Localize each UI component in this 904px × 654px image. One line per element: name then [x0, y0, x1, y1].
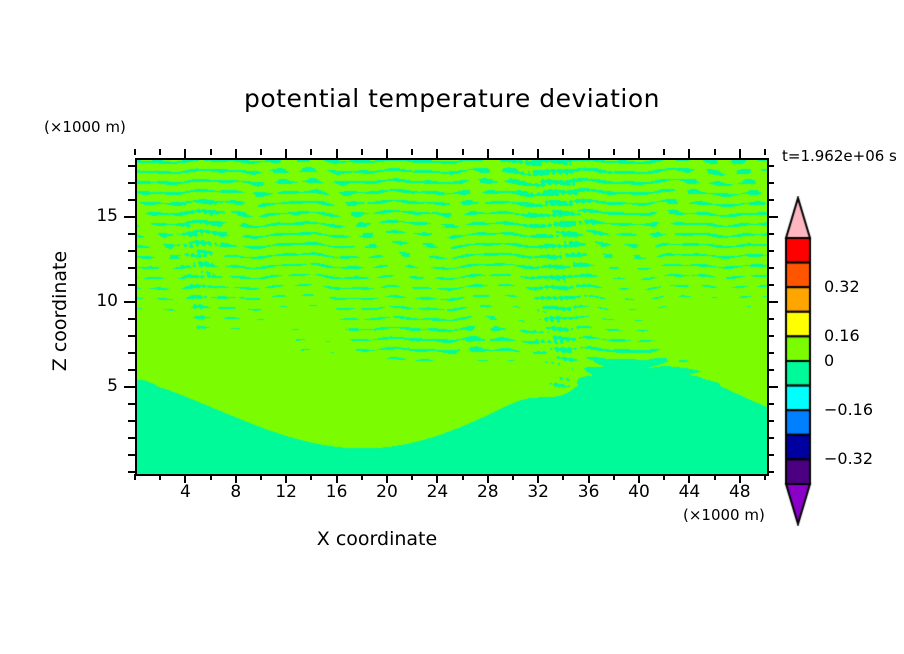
x-tick-top: [537, 149, 539, 158]
x-tick-top: [663, 149, 665, 155]
y-tick: [128, 182, 135, 184]
y-axis-title: Z coordinate: [49, 211, 71, 411]
x-axis-title: X coordinate: [0, 528, 904, 550]
x-tick: [411, 474, 413, 480]
x-tick-top: [184, 149, 186, 158]
y-tick-right: [767, 284, 774, 286]
x-tick-top: [436, 149, 438, 158]
x-tick: [310, 474, 312, 480]
x-axis-unit-label: (×1000 m): [683, 506, 765, 524]
colorbar: 0.320.160−0.16−0.32: [782, 196, 892, 526]
time-annotation: t=1.962e+06 s: [782, 147, 897, 165]
y-tick: [128, 267, 135, 269]
colorbar-label: 0: [824, 351, 834, 370]
colorbar-canvas: [782, 196, 816, 526]
y-tick: [128, 454, 135, 456]
y-tick-right: [767, 318, 774, 320]
y-tick-right: [767, 301, 778, 303]
x-tick: [134, 474, 136, 480]
x-tick-top: [386, 149, 388, 158]
y-tick: [128, 403, 135, 405]
x-tick: [159, 474, 161, 480]
y-tick: [128, 284, 135, 286]
y-tick-right: [767, 437, 774, 439]
y-tick: [128, 199, 135, 201]
x-tick-top: [134, 149, 136, 155]
x-tick-top: [613, 149, 615, 155]
y-tick: [128, 335, 135, 337]
y-tick: [128, 437, 135, 439]
y-tick: [128, 250, 135, 252]
y-tick-right: [767, 386, 778, 388]
x-tick-top: [562, 149, 564, 155]
x-tick: [260, 474, 262, 480]
x-tick-top: [714, 149, 716, 155]
y-tick-right: [767, 471, 774, 473]
y-tick: [128, 318, 135, 320]
y-tick: [128, 233, 135, 235]
x-tick: [613, 474, 615, 480]
x-tick: [361, 474, 363, 480]
y-tick-right: [767, 420, 774, 422]
y-tick-right: [767, 233, 774, 235]
y-tick: [128, 471, 135, 473]
colorbar-label: −0.32: [824, 449, 873, 468]
x-tick-top: [688, 149, 690, 158]
contour-plot-area: [135, 158, 769, 476]
y-tick-right: [767, 335, 774, 337]
x-tick-top: [588, 149, 590, 158]
x-tick-top: [361, 149, 363, 155]
page-title: potential temperature deviation: [0, 84, 904, 113]
y-tick-right: [767, 165, 774, 167]
y-tick: [128, 369, 135, 371]
y-tick-right: [767, 403, 774, 405]
x-tick-label: 48: [710, 482, 770, 502]
x-tick-top: [285, 149, 287, 158]
x-tick-top: [210, 149, 212, 155]
x-tick-top: [310, 149, 312, 155]
x-tick-top: [487, 149, 489, 158]
y-tick-right: [767, 199, 774, 201]
y-tick-right: [767, 216, 778, 218]
x-tick: [512, 474, 514, 480]
y-tick-right: [767, 250, 774, 252]
y-tick-right: [767, 369, 774, 371]
x-tick: [714, 474, 716, 480]
x-tick: [764, 474, 766, 480]
y-tick: [124, 386, 135, 388]
x-tick-top: [260, 149, 262, 155]
x-tick-top: [764, 149, 766, 155]
y-tick: [128, 165, 135, 167]
y-tick: [128, 352, 135, 354]
y-tick-right: [767, 454, 774, 456]
x-tick-top: [336, 149, 338, 158]
y-tick-right: [767, 352, 774, 354]
x-tick: [562, 474, 564, 480]
y-tick-right: [767, 182, 774, 184]
x-tick-top: [739, 149, 741, 158]
x-tick: [210, 474, 212, 480]
y-tick: [124, 216, 135, 218]
z-axis-unit-label: (×1000 m): [44, 118, 126, 136]
x-tick-top: [235, 149, 237, 158]
x-tick-top: [638, 149, 640, 158]
x-tick: [663, 474, 665, 480]
contour-field-canvas: [137, 160, 767, 474]
x-tick-top: [462, 149, 464, 155]
colorbar-label: 0.32: [824, 277, 860, 296]
x-tick: [462, 474, 464, 480]
colorbar-label: 0.16: [824, 326, 860, 345]
x-tick-top: [512, 149, 514, 155]
x-tick-top: [411, 149, 413, 155]
y-tick: [128, 420, 135, 422]
colorbar-label: −0.16: [824, 400, 873, 419]
y-tick: [124, 301, 135, 303]
x-tick-top: [159, 149, 161, 155]
y-tick-right: [767, 267, 774, 269]
